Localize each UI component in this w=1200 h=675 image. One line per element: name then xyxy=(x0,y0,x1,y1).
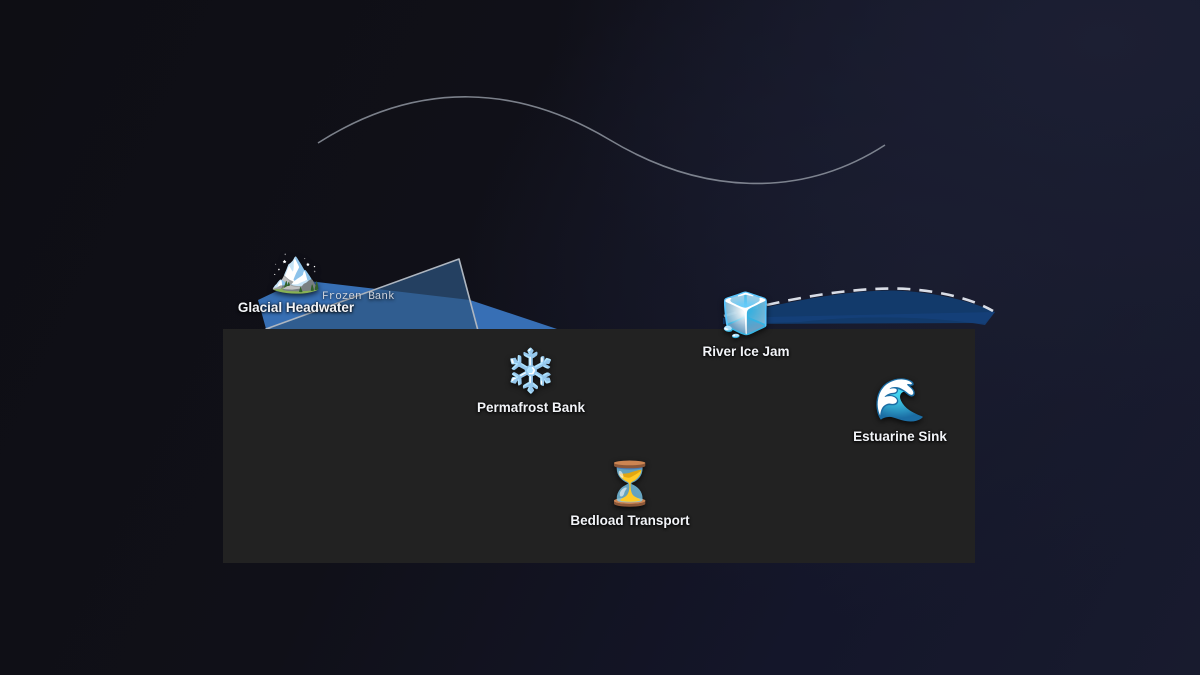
graph-node-label: Estuarine Sink xyxy=(853,429,947,444)
graph-node-estuarine-sink[interactable]: 🌊 Estuarine Sink xyxy=(805,377,995,444)
snow-capped-mountain-icon: 🏔️ xyxy=(270,248,322,294)
water-wave-icon: 🌊 xyxy=(874,377,926,423)
snowflake-icon: ❄️ xyxy=(505,348,557,394)
decorative-s-curve xyxy=(318,97,885,184)
graph-node-glacial-headwater[interactable]: 🏔️ Glacial Headwater xyxy=(201,248,391,315)
hourglass-icon: ⏳ xyxy=(604,461,656,507)
social-card-canvas: 🏔️ Glacial Headwater ❄️ Permafrost Bank … xyxy=(0,0,1200,675)
edge-label-frozen-bank: Frozen Bank xyxy=(322,291,395,303)
graph-node-bedload-transport[interactable]: ⏳ Bedload Transport xyxy=(535,461,725,528)
ice-cube-icon: 🧊 xyxy=(720,292,772,338)
graph-node-river-ice-jam[interactable]: 🧊 River Ice Jam xyxy=(651,292,841,359)
graph-node-label: Bedload Transport xyxy=(570,513,689,528)
graph-node-label: Permafrost Bank xyxy=(477,400,585,415)
graph-node-label: River Ice Jam xyxy=(702,344,789,359)
graph-node-permafrost-bank[interactable]: ❄️ Permafrost Bank xyxy=(436,348,626,415)
